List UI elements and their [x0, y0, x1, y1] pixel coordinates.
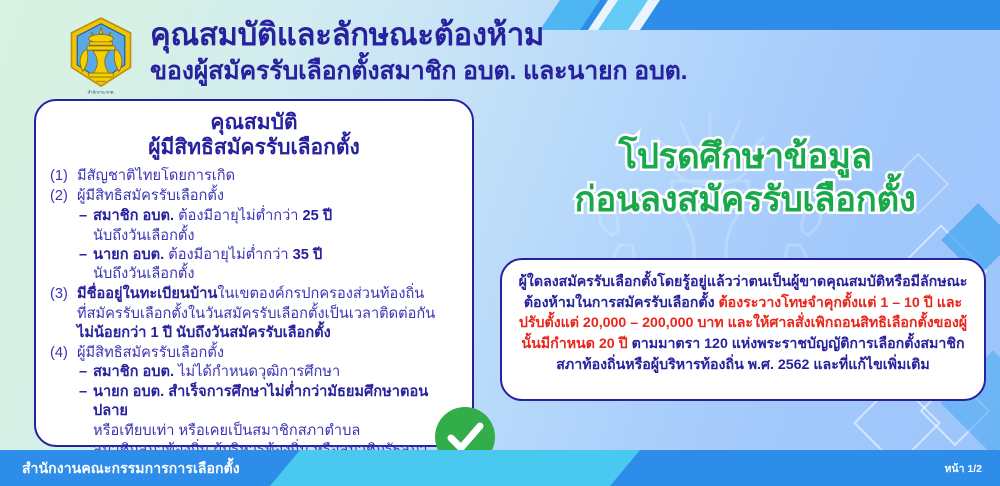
item-line2: ที่สมัครรับเลือกตั้งในวันสมัครรับเลือกตั… [77, 305, 458, 324]
qualifications-card: คุณสมบัติ ผู้มีสิทธิสมัครรับเลือกตั้ง (1… [34, 99, 474, 447]
item-text: มีสัญชาติไทยโดยการเกิด [77, 167, 458, 186]
sub-item: – นายก อบต. สำเร็จการศึกษาไม่ต่ำกว่ามัธย… [79, 383, 458, 422]
sub-bold-lead: นายก อบต. สำเร็จการศึกษาไม่ต่ำกว่ามัธยมศ… [93, 383, 458, 422]
header: สำนักงาน กกต. คุณสมบัติและลักษณะต้องห้าม… [0, 6, 1000, 92]
ect-emblem-logo-icon: สำนักงาน กกต. [58, 14, 144, 96]
item-number: (3) [50, 285, 77, 304]
item-text: ผู้มีสิทธิสมัครรับเลือกตั้ง [77, 344, 458, 363]
svg-text:สำนักงาน กกต.: สำนักงาน กกต. [87, 90, 114, 95]
penalty-info-text: ผู้ใดลงสมัครรับเลือกตั้งโดยรู้อยู่แล้วว่… [518, 272, 968, 376]
sub-bold-lead: สมาชิก อบต. [93, 364, 174, 380]
footer-page-number: หน้า 1/2 [944, 460, 982, 477]
green-heading-line2: ก่อนลงสมัครรับเลือกตั้ง [490, 179, 1000, 222]
qualifications-list: (1) มีสัญชาติไทยโดยการเกิด (2) ผู้มีสิทธ… [50, 167, 458, 460]
item-text: มีชื่ออยู่ในทะเบียนบ้านในเขตองค์กรปกครอง… [77, 285, 458, 304]
header-text: คุณสมบัติและลักษณะต้องห้าม ของผู้สมัครรั… [150, 16, 850, 87]
footer-organization: สำนักงานคณะกรรมการการเลือกตั้ง [22, 458, 240, 480]
sub-continuation: นับถึงวันเลือกตั้ง [93, 227, 458, 246]
header-title-line2: ของผู้สมัครรับเลือกตั้งสมาชิก อบต. และนา… [150, 56, 850, 87]
sub-dash: – [79, 363, 93, 382]
sub-bold-lead: สมาชิก อบต. [93, 208, 174, 224]
sub-item: – สมาชิก อบต. ไม่ได้กำหนดวุฒิการศึกษา [79, 363, 458, 382]
item-text: ผู้มีสิทธิสมัครรับเลือกตั้ง [77, 187, 458, 206]
sub-text: สมาชิก อบต. ไม่ได้กำหนดวุฒิการศึกษา [93, 363, 458, 382]
sub-dash: – [79, 207, 93, 226]
sub-text: นายก อบต. ต้องมีอายุไม่ต่ำกว่า 35 ปี [93, 246, 458, 265]
item-bold-lead: มีชื่ออยู่ในทะเบียนบ้าน [77, 286, 217, 302]
list-item: (1) มีสัญชาติไทยโดยการเกิด [50, 167, 458, 186]
penalty-info-box: ผู้ใดลงสมัครรับเลือกตั้งโดยรู้อยู่แล้วว่… [500, 258, 986, 401]
green-heading: โปรดศึกษาข้อมูล ก่อนลงสมัครรับเลือกตั้ง [490, 136, 1000, 221]
poster-root: สำนักงาน กกต. คุณสมบัติและลักษณะต้องห้าม… [0, 0, 1000, 486]
list-item: (4) ผู้มีสิทธิสมัครรับเลือกตั้ง [50, 344, 458, 363]
item-number: (4) [50, 344, 77, 363]
sub-bold-value: 25 ปี [303, 208, 333, 224]
card-title: คุณสมบัติ ผู้มีสิทธิสมัครรับเลือกตั้ง [50, 110, 458, 160]
item-number: (1) [50, 167, 77, 186]
header-title-line1: คุณสมบัติและลักษณะต้องห้าม [150, 16, 850, 54]
sub-item: – สมาชิก อบต. ต้องมีอายุไม่ต่ำกว่า 25 ปี [79, 207, 458, 226]
sub-bold-lead: นายก อบต. [93, 247, 164, 263]
list-item: (2) ผู้มีสิทธิสมัครรับเลือกตั้ง [50, 187, 458, 206]
sub-dash: – [79, 383, 93, 422]
sub-continuation: นับถึงวันเลือกตั้ง [93, 265, 458, 284]
item-line3: ไม่น้อยกว่า 1 ปี นับถึงวันสมัครรับเลือกต… [77, 324, 458, 343]
sub-bold-value: 35 ปี [293, 247, 323, 263]
sub-dash: – [79, 246, 93, 265]
sub-mid: ต้องมีอายุไม่ต่ำกว่า [164, 247, 292, 263]
list-item: (3) มีชื่ออยู่ในทะเบียนบ้านในเขตองค์กรปก… [50, 285, 458, 304]
sub-item: – นายก อบต. ต้องมีอายุไม่ต่ำกว่า 35 ปี [79, 246, 458, 265]
card-title-line1: คุณสมบัติ [50, 110, 458, 135]
sub-continuation: หรือเทียบเท่า หรือเคยเป็นสมาชิกสภาตำบล [93, 422, 458, 441]
card-title-line2: ผู้มีสิทธิสมัครรับเลือกตั้ง [50, 135, 458, 160]
green-heading-line1: โปรดศึกษาข้อมูล [490, 136, 1000, 179]
item-rest: ในเขตองค์กรปกครองส่วนท้องถิ่น [217, 286, 424, 302]
item-number: (2) [50, 187, 77, 206]
sub-mid: ต้องมีอายุไม่ต่ำกว่า [174, 208, 302, 224]
sub-mid: ไม่ได้กำหนดวุฒิการศึกษา [174, 364, 340, 380]
sub-text: สมาชิก อบต. ต้องมีอายุไม่ต่ำกว่า 25 ปี [93, 207, 458, 226]
